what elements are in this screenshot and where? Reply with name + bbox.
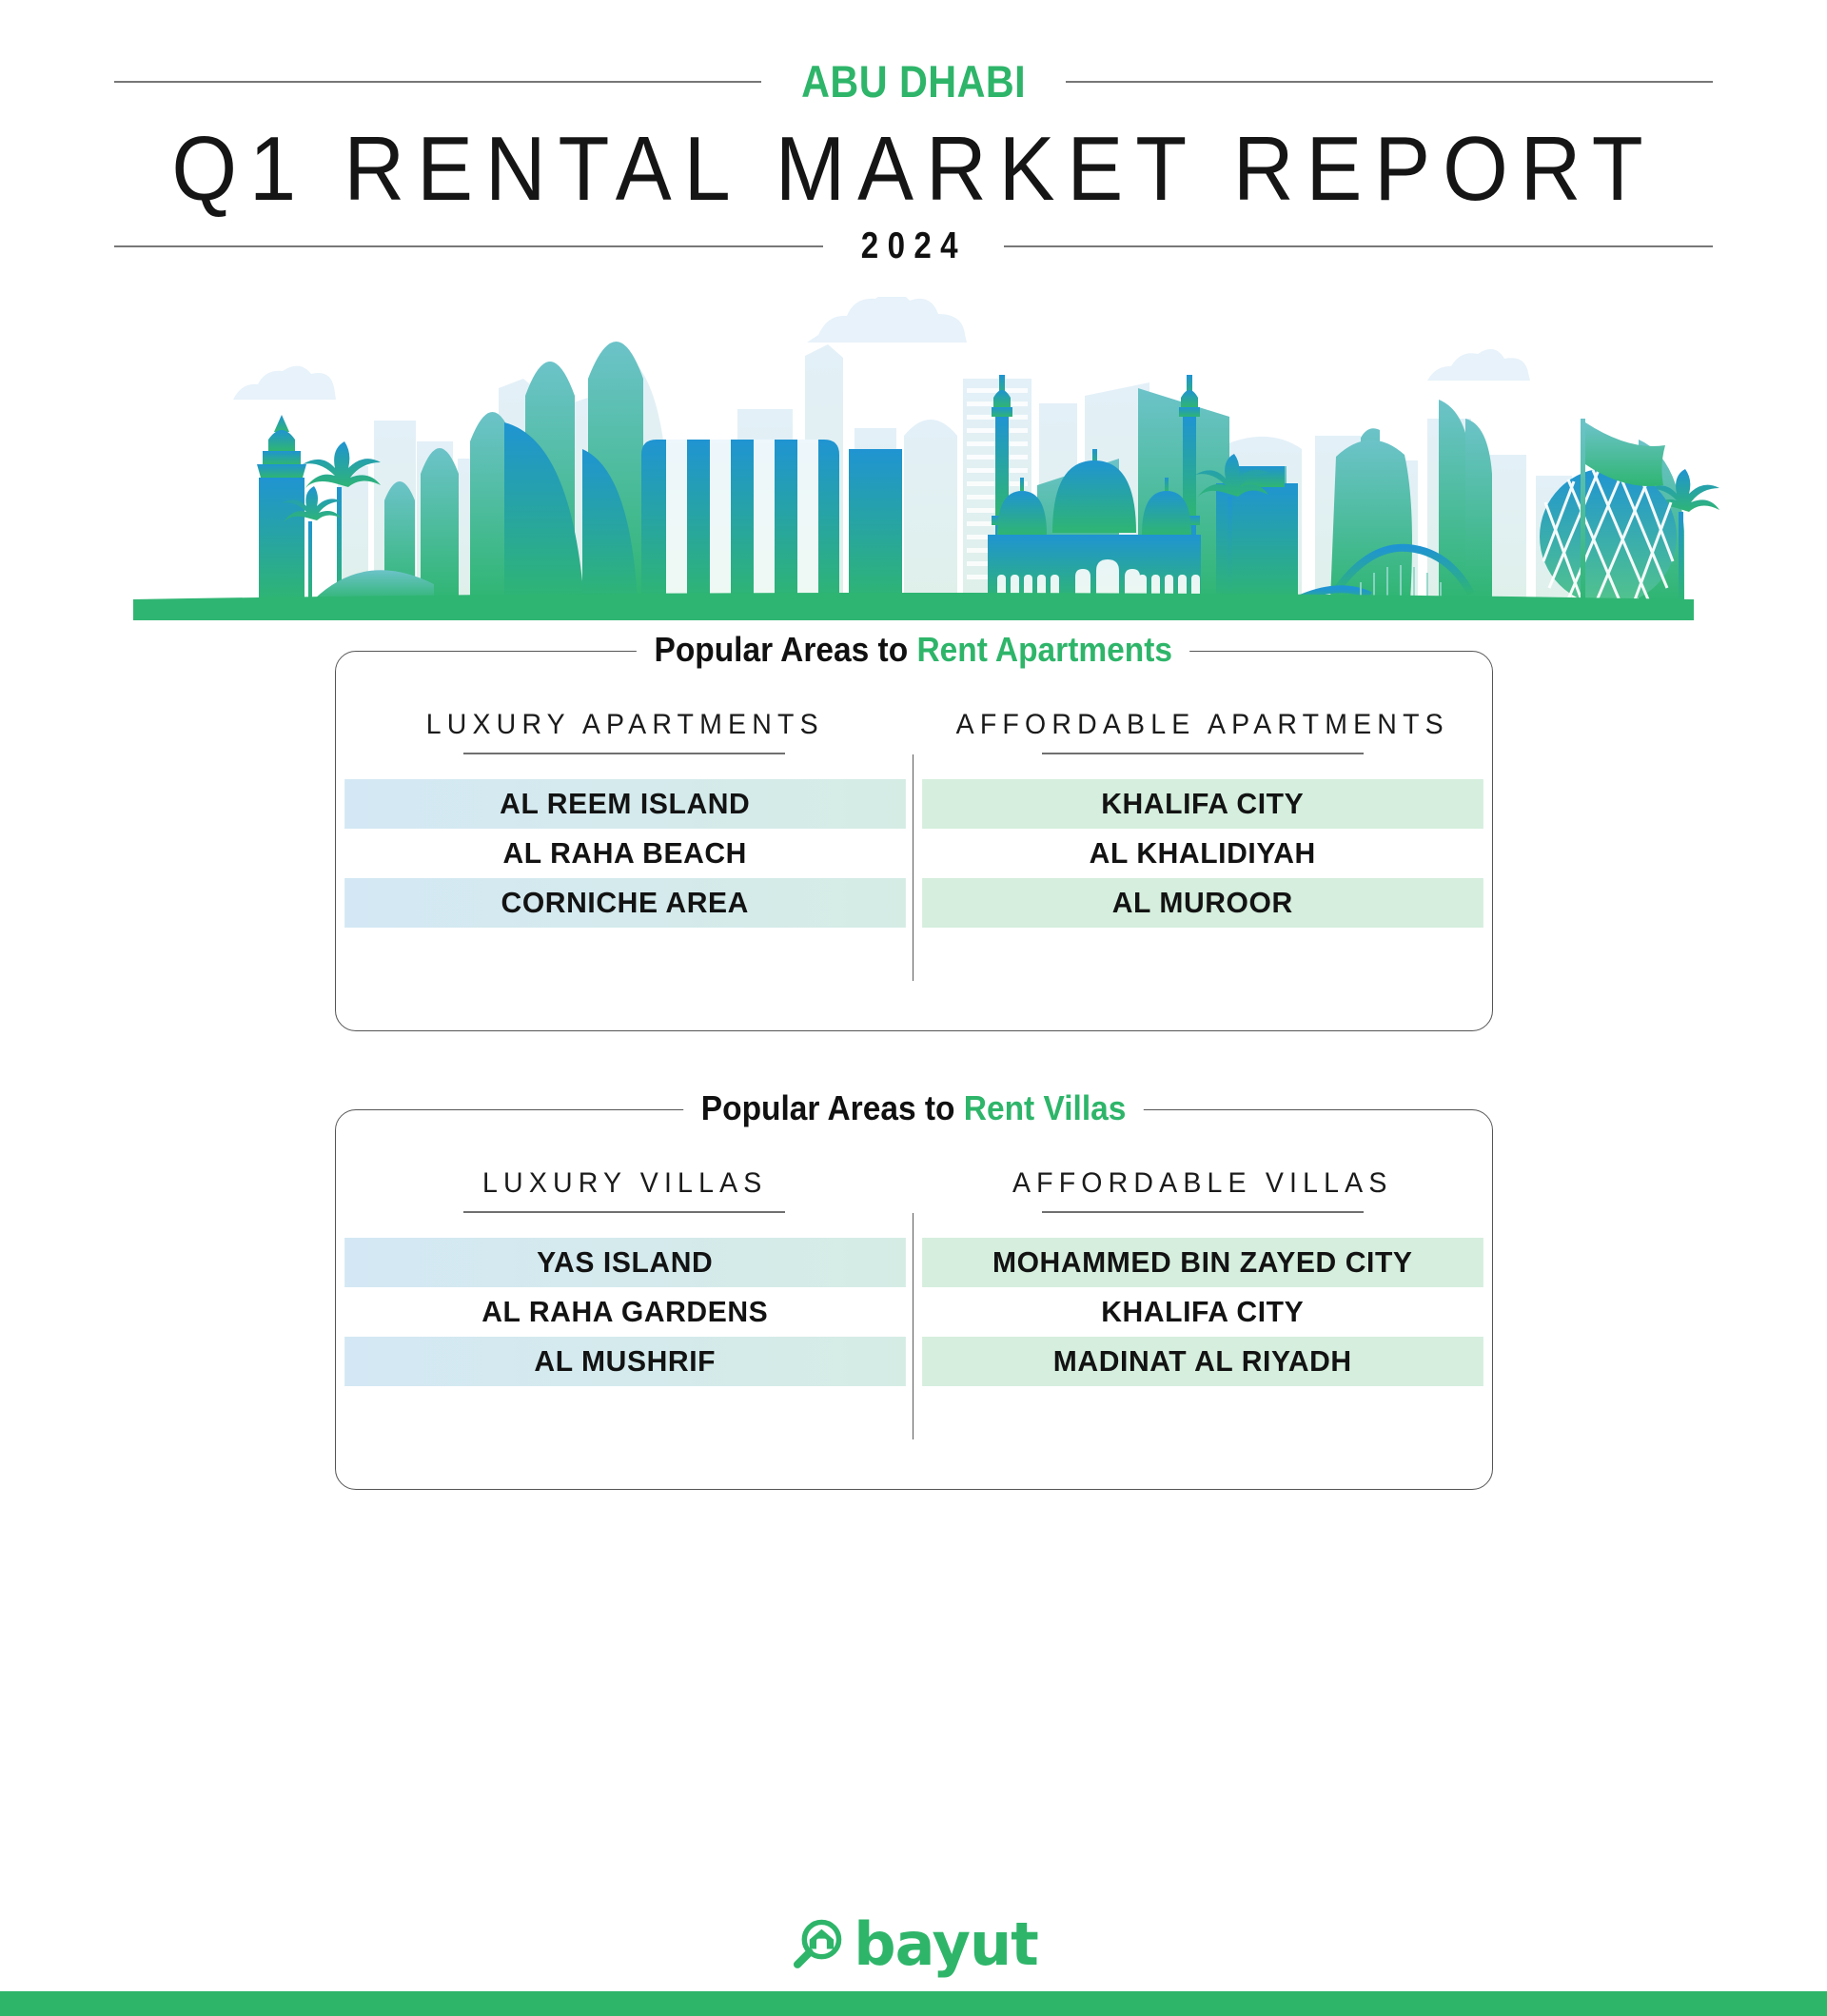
column-rows: AL REEM ISLAND AL RAHA BEACH CORNICHE AR… <box>336 779 914 928</box>
list-item: AL REEM ISLAND <box>344 779 905 829</box>
list-item: AL MUROOR <box>922 878 1483 928</box>
eyebrow-rule-left <box>114 81 761 83</box>
column-heading-rule <box>1042 1211 1364 1213</box>
footer-branding: bayut <box>0 1915 1827 1974</box>
magnifier-house-icon <box>789 1917 844 1972</box>
card-apartments-columns: LUXURY APARTMENTS AL REEM ISLAND AL RAHA… <box>336 652 1492 1030</box>
card-villas-columns: LUXURY VILLAS YAS ISLAND AL RAHA GARDENS… <box>336 1110 1492 1489</box>
city-name: ABU DHABI <box>801 59 1026 104</box>
abu-dhabi-skyline-illustration <box>0 297 1827 620</box>
year-row: 2024 <box>114 227 1713 264</box>
year-rule-left <box>114 245 823 247</box>
brand-name: bayut <box>854 1915 1038 1974</box>
report-year: 2024 <box>860 227 966 264</box>
ground-strip <box>133 593 1694 620</box>
list-item: CORNICHE AREA <box>344 878 905 928</box>
column-heading: AFFORDABLE VILLAS <box>928 1169 1477 1198</box>
skyline-svg <box>0 297 1827 620</box>
page-title: Q1 RENTAL MARKET REPORT <box>73 117 1754 222</box>
eyebrow-row: ABU DHABI <box>114 59 1713 104</box>
list-item: YAS ISLAND <box>344 1238 905 1287</box>
column-heading-rule <box>463 753 785 754</box>
column-affordable-villas: AFFORDABLE VILLAS MOHAMMED BIN ZAYED CIT… <box>913 1169 1492 1489</box>
column-luxury-villas: LUXURY VILLAS YAS ISLAND AL RAHA GARDENS… <box>336 1169 914 1489</box>
column-heading: LUXURY APARTMENTS <box>350 711 899 739</box>
column-heading: AFFORDABLE APARTMENTS <box>928 711 1477 739</box>
bottom-accent-bar <box>0 1991 1827 2016</box>
year-rule-right <box>1004 245 1713 247</box>
column-rows: MOHAMMED BIN ZAYED CITY KHALIFA CITY MAD… <box>913 1238 1492 1386</box>
column-heading-rule <box>1042 753 1364 754</box>
list-item: KHALIFA CITY <box>922 1287 1483 1337</box>
lighthouse-tower <box>257 415 306 601</box>
column-luxury-apartments: LUXURY APARTMENTS AL REEM ISLAND AL RAHA… <box>336 711 914 1030</box>
card-rent-villas: Popular Areas to Rent Villas LUXURY VILL… <box>335 1109 1493 1490</box>
eyebrow-rule-right <box>1066 81 1713 83</box>
column-heading: LUXURY VILLAS <box>350 1169 899 1198</box>
infographic-page: ABU DHABI Q1 RENTAL MARKET REPORT 2024 <box>0 0 1827 2016</box>
list-item: AL MUSHRIF <box>344 1337 905 1386</box>
list-item: KHALIFA CITY <box>922 779 1483 829</box>
column-rows: KHALIFA CITY AL KHALIDIYAH AL MUROOR <box>913 779 1492 928</box>
list-item: AL KHALIDIYAH <box>922 829 1483 878</box>
card-rent-apartments: Popular Areas to Rent Apartments LUXURY … <box>335 651 1493 1031</box>
report-header: ABU DHABI Q1 RENTAL MARKET REPORT 2024 <box>0 0 1827 264</box>
column-affordable-apartments: AFFORDABLE APARTMENTS KHALIFA CITY AL KH… <box>913 711 1492 1030</box>
clouds <box>226 297 1530 400</box>
list-item: AL RAHA BEACH <box>344 829 905 878</box>
column-rows: YAS ISLAND AL RAHA GARDENS AL MUSHRIF <box>336 1238 914 1386</box>
list-item: MOHAMMED BIN ZAYED CITY <box>922 1238 1483 1287</box>
aldar-hq-sphere <box>1540 468 1677 605</box>
list-item: MADINAT AL RIYADH <box>922 1337 1483 1386</box>
list-item: AL RAHA GARDENS <box>344 1287 905 1337</box>
column-heading-rule <box>463 1211 785 1213</box>
